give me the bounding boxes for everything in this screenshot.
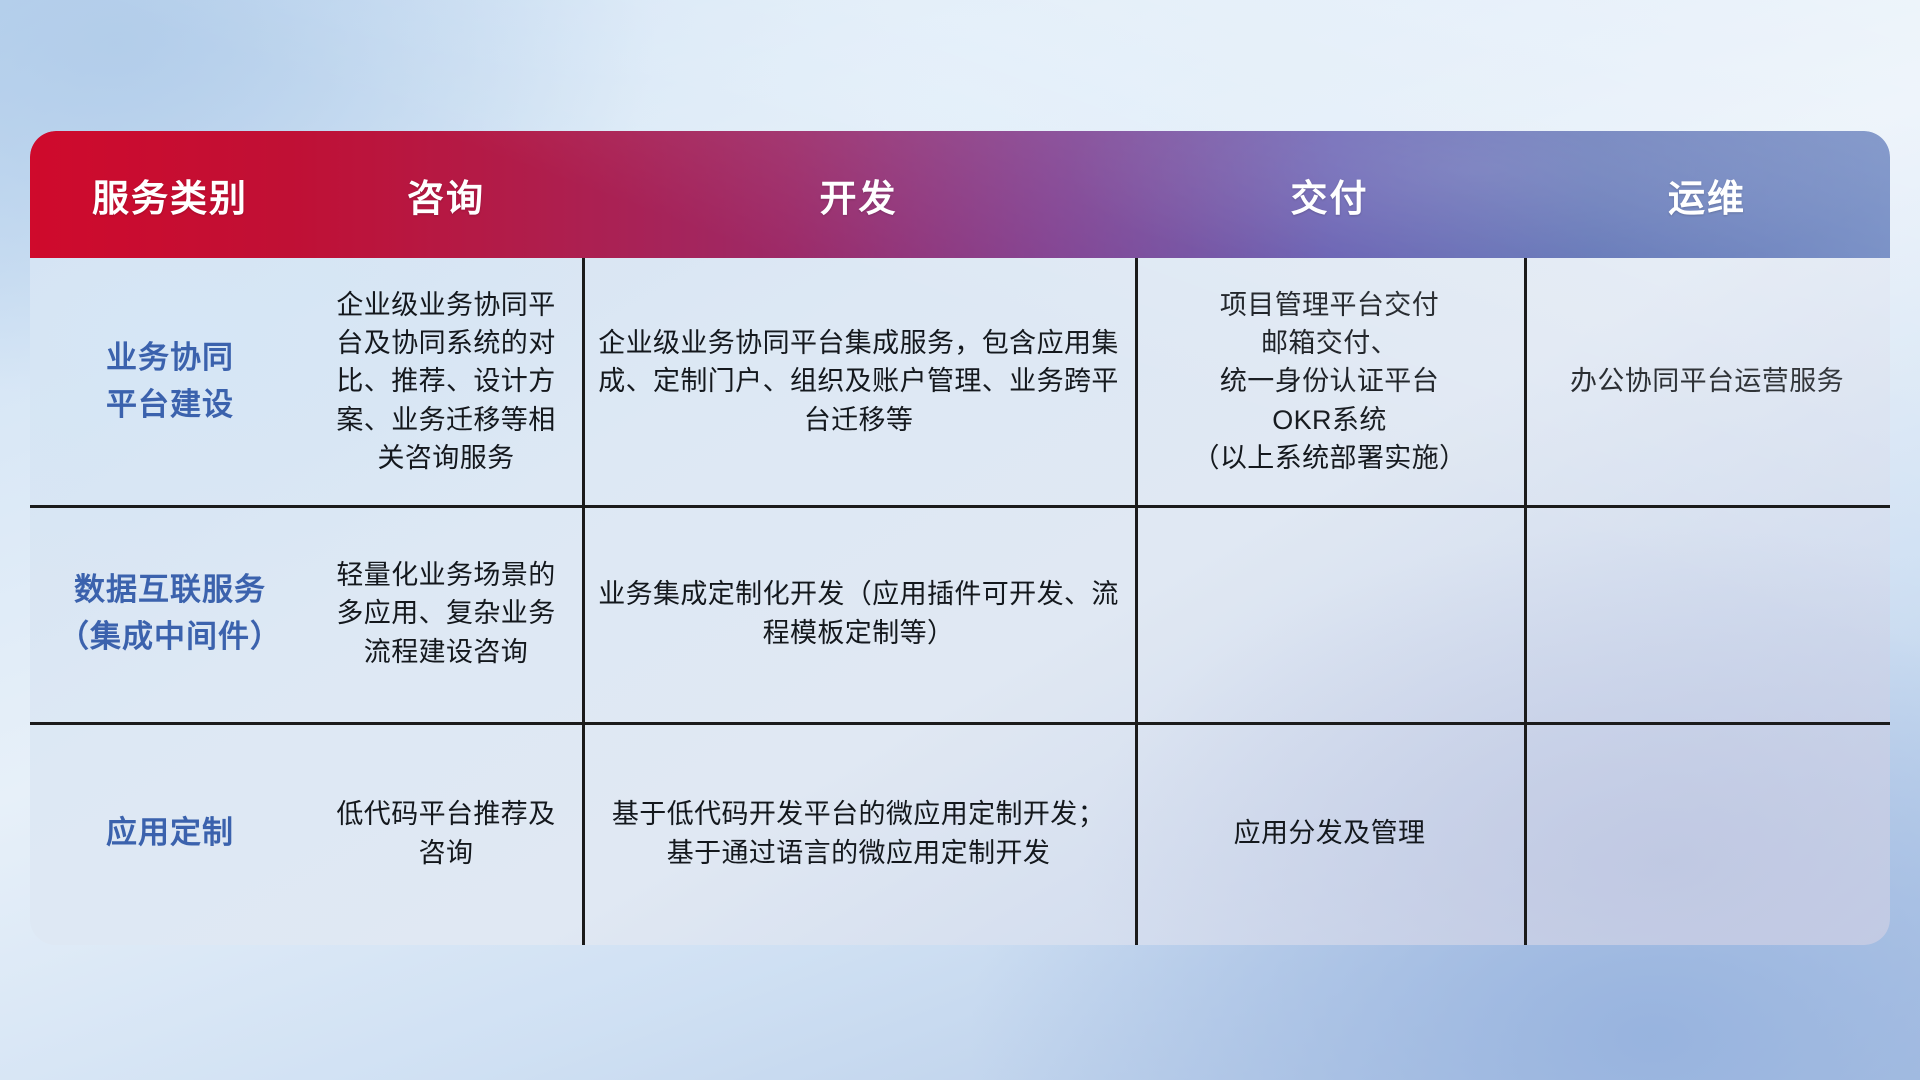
cell-operations [1524,505,1890,722]
cell-development: 业务集成定制化开发（应用插件可开发、流程模板定制等） [582,505,1135,722]
cell-delivery: 项目管理平台交付 邮箱交付、 统一身份认证平台 OKR系统 （以上系统部署实施） [1135,258,1524,505]
column-header-consulting: 咨询 [310,168,582,222]
row-category-label: 应用定制 [30,722,310,945]
column-divider-delivery-operations [1524,258,1527,945]
table-body: 业务协同 平台建设 企业级业务协同平台及协同系统的对比、推荐、设计方案、业务迁移… [30,258,1890,945]
column-divider-consulting-development [582,258,585,945]
table-header-row: 服务类别 咨询 开发 交付 运维 [30,131,1890,258]
cell-delivery [1135,505,1524,722]
service-matrix-table: 服务类别 咨询 开发 交付 运维 业务协同 平台建设 企业级业务协同平台及协同系… [30,131,1890,945]
cell-development: 基于低代码开发平台的微应用定制开发； 基于通过语言的微应用定制开发 [582,722,1135,945]
column-header-delivery: 交付 [1135,168,1524,222]
table-row: 应用定制 低代码平台推荐及咨询 基于低代码开发平台的微应用定制开发； 基于通过语… [30,722,1890,945]
cell-consulting: 轻量化业务场景的多应用、复杂业务流程建设咨询 [310,505,582,722]
column-header-development: 开发 [582,168,1135,222]
table-row: 业务协同 平台建设 企业级业务协同平台及协同系统的对比、推荐、设计方案、业务迁移… [30,258,1890,505]
column-divider-development-delivery [1135,258,1138,945]
row-divider-1 [30,505,1890,508]
cell-consulting: 企业级业务协同平台及协同系统的对比、推荐、设计方案、业务迁移等相关咨询服务 [310,258,582,505]
column-header-operations: 运维 [1524,168,1890,222]
cell-operations [1524,722,1890,945]
cell-development: 企业级业务协同平台集成服务，包含应用集成、定制门户、组织及账户管理、业务跨平台迁… [582,258,1135,505]
page-background: 服务类别 咨询 开发 交付 运维 业务协同 平台建设 企业级业务协同平台及协同系… [0,0,1920,1080]
row-category-label: 数据互联服务 （集成中间件） [30,505,310,722]
cell-consulting: 低代码平台推荐及咨询 [310,722,582,945]
table-row: 数据互联服务 （集成中间件） 轻量化业务场景的多应用、复杂业务流程建设咨询 业务… [30,505,1890,722]
row-category-label: 业务协同 平台建设 [30,258,310,505]
row-divider-2 [30,722,1890,725]
cell-delivery: 应用分发及管理 [1135,722,1524,945]
column-header-category: 服务类别 [30,168,310,222]
cell-operations: 办公协同平台运营服务 [1524,258,1890,505]
